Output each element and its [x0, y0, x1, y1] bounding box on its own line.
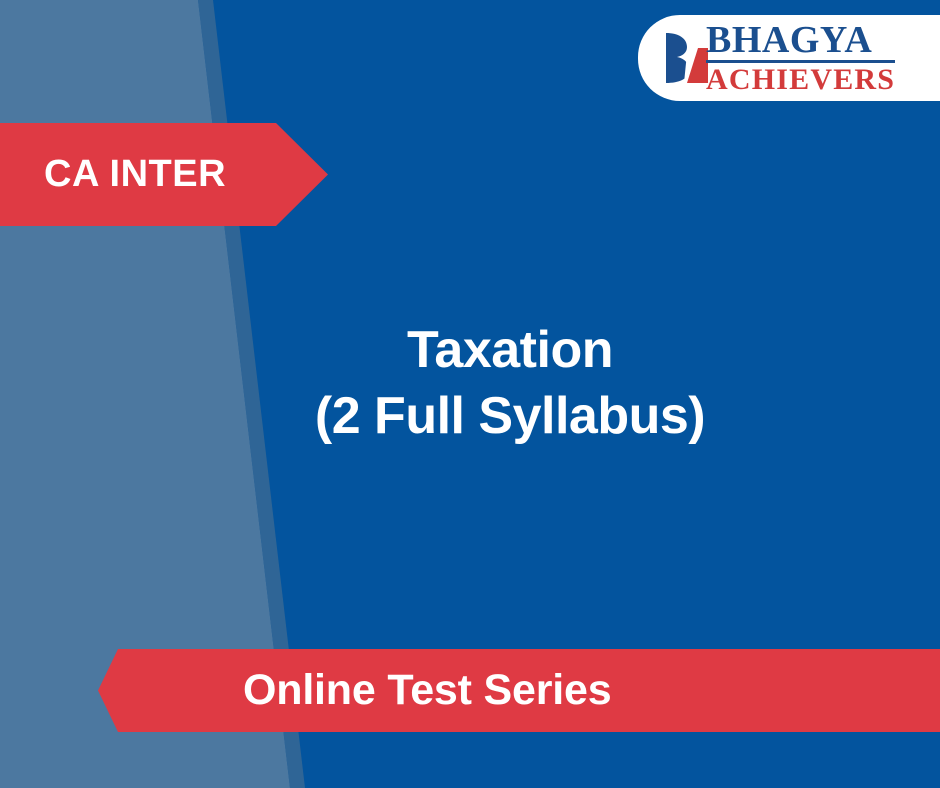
promotional-poster: BHAGYA ACHIEVERS CA INTER Taxation (2 Fu… — [0, 0, 940, 788]
brand-logo-card: BHAGYA ACHIEVERS — [638, 15, 940, 101]
page-title: Taxation (2 Full Syllabus) — [230, 318, 790, 449]
brand-name-primary: BHAGYA — [706, 21, 895, 63]
bhagya-achievers-monogram-icon — [662, 30, 708, 86]
brand-name-secondary: ACHIEVERS — [706, 65, 895, 95]
course-level-banner: CA INTER — [0, 123, 328, 226]
brand-wordmark: BHAGYA ACHIEVERS — [706, 21, 895, 95]
product-type-ribbon: Online Test Series — [98, 649, 940, 732]
page-title-line-2: (2 Full Syllabus) — [230, 384, 790, 450]
course-level-label: CA INTER — [44, 153, 226, 196]
page-title-line-1: Taxation — [230, 318, 790, 384]
product-type-label: Online Test Series — [243, 666, 611, 715]
